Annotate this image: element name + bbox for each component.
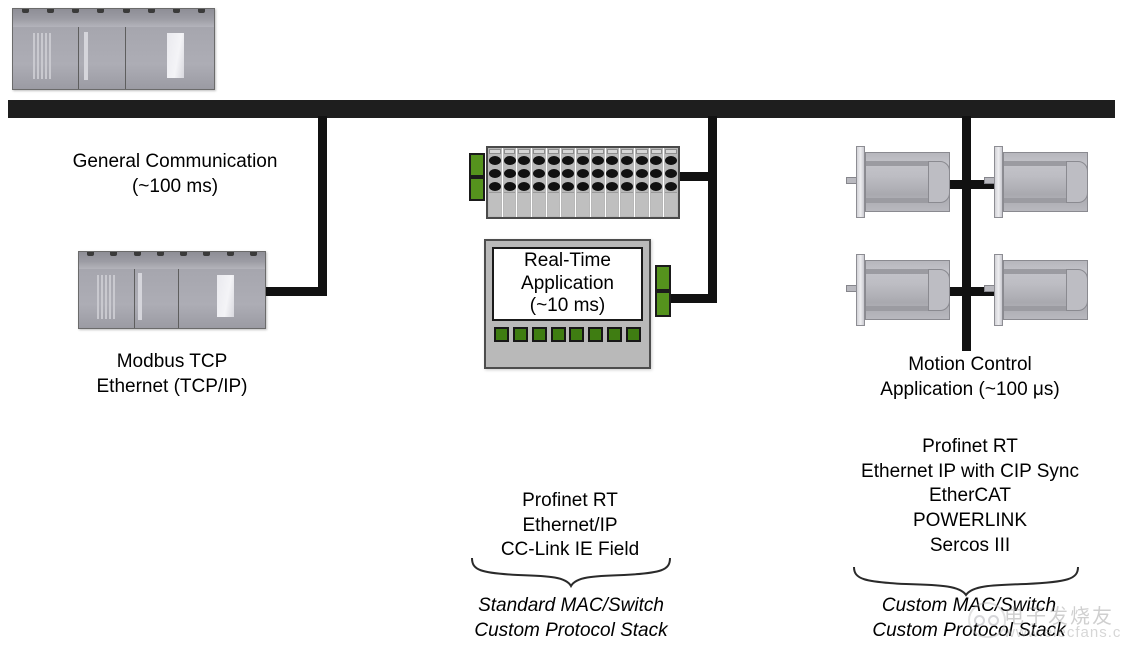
terminal-column [606, 148, 621, 217]
realtime-display: Real-Time Application (~10 ms) [492, 247, 643, 321]
plc-body [79, 269, 265, 328]
motion-brace [852, 565, 1080, 597]
servo-motor [846, 254, 950, 326]
led-indicator [607, 327, 622, 342]
wire-drop-right [962, 116, 971, 351]
protocol-item: Sercos III [830, 534, 1110, 559]
general-communication-line1: General Communication [40, 150, 310, 175]
motion-control-caption: Motion Control Application (~100 μs) [835, 353, 1105, 402]
general-communication-caption: General Communication (~100 ms) [40, 150, 310, 199]
realtime-controller: Real-Time Application (~10 ms) [484, 239, 651, 369]
motion-summary: Custom MAC/Switch Custom Protocol Stack [828, 594, 1110, 643]
modbus-device-label: Modbus TCP Ethernet (TCP/IP) [42, 350, 302, 399]
led-indicator [513, 327, 528, 342]
protocol-item: EtherCAT [830, 484, 1110, 509]
protocol-item: Profinet RT [450, 489, 690, 514]
realtime-line1: Real-Time [524, 250, 611, 272]
motion-summary-line2: Custom Protocol Stack [828, 619, 1110, 644]
realtime-line3: (~10 ms) [530, 295, 606, 317]
led-indicator [626, 327, 641, 342]
plc-module [179, 269, 265, 328]
connector-block-terminal-upper [469, 153, 485, 177]
terminal-column [532, 148, 547, 217]
terminal-column [517, 148, 532, 217]
terminal-column [635, 148, 650, 217]
terminal-column [591, 148, 606, 217]
wire-branch-terminal [678, 172, 714, 181]
connector-block-terminal-lower [469, 177, 485, 201]
terminal-column [488, 148, 503, 217]
io-terminal-block [486, 146, 680, 219]
connector-block-rtapp-lower [655, 291, 671, 317]
plc-module [79, 269, 135, 328]
connector-block-rtapp-upper [655, 265, 671, 291]
servo-motor [846, 146, 950, 218]
plc-module [126, 27, 214, 89]
middle-summary-line1: Standard MAC/Switch [448, 594, 694, 619]
motion-control-line1: Motion Control [835, 353, 1105, 378]
modbus-label-line2: Ethernet (TCP/IP) [42, 375, 302, 400]
terminal-column [503, 148, 518, 217]
wire-drop-middle [708, 116, 717, 303]
motion-protocol-list: Profinet RT Ethernet IP with CIP Sync Et… [830, 435, 1110, 558]
servo-motor [984, 146, 1088, 218]
middle-summary-line2: Custom Protocol Stack [448, 619, 694, 644]
ethernet-bus-bar [8, 100, 1115, 118]
diagram-canvas: General Communication (~100 ms) [0, 0, 1122, 656]
wire-branch-left [265, 287, 323, 296]
plc-body [13, 27, 214, 89]
terminal-column [576, 148, 591, 217]
led-indicator [588, 327, 603, 342]
led-indicator [532, 327, 547, 342]
led-indicator [551, 327, 566, 342]
led-indicator [569, 327, 584, 342]
plc-module [135, 269, 180, 328]
general-communication-line2: (~100 ms) [40, 175, 310, 200]
middle-protocol-list: Profinet RT Ethernet/IP CC-Link IE Field [450, 489, 690, 563]
protocol-item: Ethernet IP with CIP Sync [830, 460, 1110, 485]
plc-module [13, 27, 79, 89]
plc-terminal-tabs [79, 252, 265, 257]
terminal-column [650, 148, 665, 217]
protocol-item: Ethernet/IP [450, 514, 690, 539]
modbus-label-line1: Modbus TCP [42, 350, 302, 375]
middle-brace [470, 556, 672, 588]
plc-terminal-tabs [13, 9, 214, 14]
protocol-item: Profinet RT [830, 435, 1110, 460]
led-indicator [494, 327, 509, 342]
motion-summary-line1: Custom MAC/Switch [828, 594, 1110, 619]
plc-top-strip [13, 9, 214, 28]
realtime-line2: Application [521, 273, 614, 295]
plc-device-modbus [78, 251, 266, 329]
terminal-column [620, 148, 635, 217]
plc-module [79, 27, 125, 89]
motion-control-line2: Application (~100 μs) [835, 378, 1105, 403]
wire-drop-left [318, 116, 327, 296]
terminal-column [664, 148, 678, 217]
realtime-led-row [492, 327, 643, 342]
plc-device-top [12, 8, 215, 90]
middle-summary: Standard MAC/Switch Custom Protocol Stac… [448, 594, 694, 643]
terminal-column [561, 148, 576, 217]
terminal-column [547, 148, 562, 217]
protocol-item: POWERLINK [830, 509, 1110, 534]
servo-motor [984, 254, 1088, 326]
plc-top-strip [79, 252, 265, 270]
